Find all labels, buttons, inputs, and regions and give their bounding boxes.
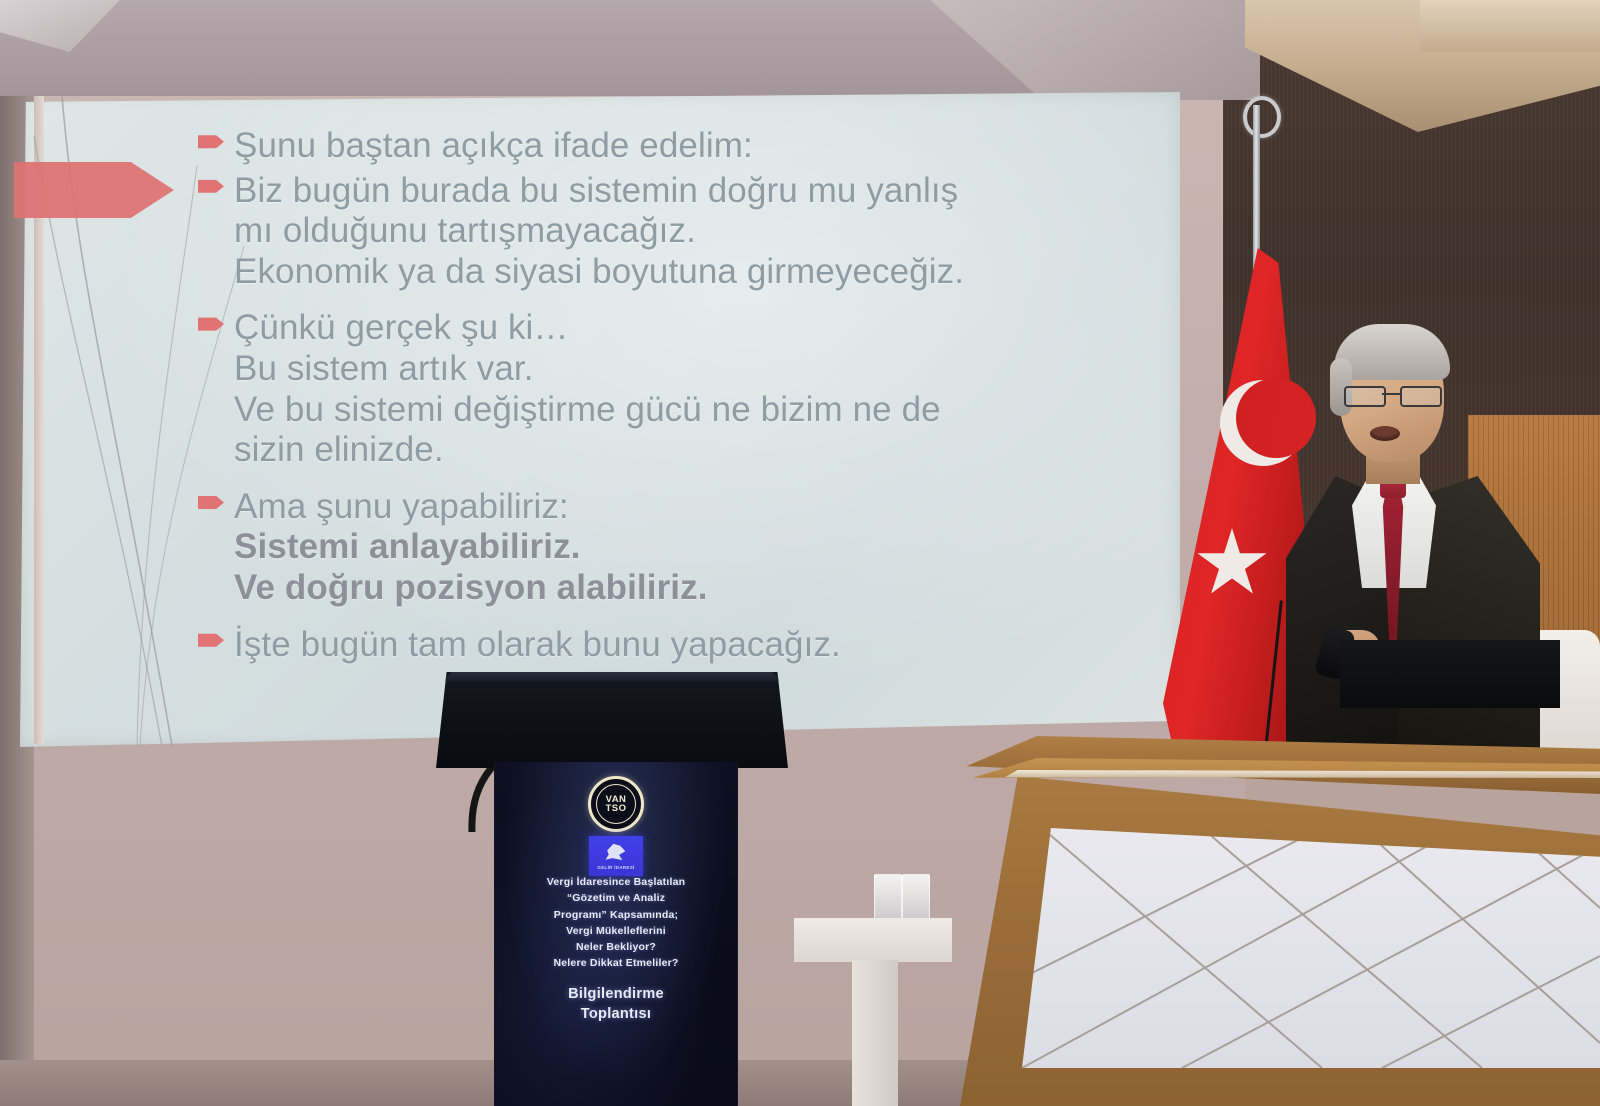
side-table-top [794,918,952,962]
podium-sign-line: Nelere Dikkat Etmeliler? [495,955,737,971]
slide-line: Şunu baştan açıkça ifade edelim: [198,126,1108,167]
podium-sign-title-line: Bilgilendirme [495,984,737,1004]
slide-bullet-block: İşte bugün tam olarak bunu yapacağız. [198,625,1108,666]
slide-line: Ekonomik ya da siyasi boyutuna girmeyece… [198,252,1108,293]
drinking-glass [874,874,902,922]
podium: VAN TSO GELİR İDARESİ Vergi İdaresince B… [436,672,788,1106]
podium-sign-line: Vergi Mükelleflerini [495,923,737,939]
podium-sign-subtitle-lines: Vergi İdaresince Başlatılan“Gözetim ve A… [495,874,737,972]
side-table-leg [852,960,898,1106]
van-tso-logo-bottom-text: TSO [605,804,626,814]
van-tso-logo-inner: VAN TSO [596,784,636,824]
podium-display-panel: VAN TSO GELİR İDARESİ Vergi İdaresince B… [494,762,738,1106]
slide-line: Ama şunu yapabiliriz: [198,487,1108,528]
slide-bullet-block: Çünkü gerçek şu ki…Bu sistem artık var.V… [198,308,1108,470]
lens-left [1344,386,1386,407]
gib-emblem-shape [603,843,629,863]
flag-finial [1243,96,1281,138]
gib-logo-word: GELİR İDARESİ [597,865,634,870]
slide-bullet-block: Biz bugün burada bu sistemin doğru mu ya… [198,171,1108,293]
van-tso-logo-icon: VAN TSO [588,776,644,832]
slide-line: sizin elinizde. [198,430,1108,471]
podium-sign-line: “Gözetim ve Analiz [495,890,737,906]
slide-line: Bu sistem artık var. [198,349,1108,390]
ceiling-beam-top [1420,0,1600,52]
podium-top-edge [442,672,782,682]
presentation-photo-scene: Şunu baştan açıkça ifade edelim:Biz bugü… [0,0,1600,1106]
lens-right [1400,386,1442,407]
slide-bullet-block: Ama şunu yapabiliriz:Sistemi anlayabilir… [198,487,1108,609]
slide-line: Sistemi anlayabiliriz. [198,527,1108,568]
podium-sign-line: Programı” Kapsamında; [495,907,737,923]
wooden-desk [960,736,1600,1106]
mouth [1370,426,1400,441]
eyeglasses [1344,386,1442,403]
slide-line: Ve doğru pozisyon alabiliriz. [198,568,1108,609]
gelir-idaresi-logo-icon: GELİR İDARESİ [589,836,643,876]
slide-line: İşte bugün tam olarak bunu yapacağız. [198,625,1108,666]
desk-lattice-panel [1022,828,1600,1068]
slide-line: mı olduğunu tartışmayacağız. [198,211,1108,252]
podium-sign-title-lines: BilgilendirmeToplantısı [495,984,737,1025]
diamond-lattice [1022,828,1600,1068]
slide-line: Biz bugün burada bu sistemin doğru mu ya… [198,171,1108,212]
podium-sign-line: Vergi İdaresince Başlatılan [495,874,737,890]
podium-sign-title-line: Toplantısı [495,1004,737,1024]
slide-line: Ve bu sistemi değiştirme gücü ne bizim n… [198,390,1108,431]
drinking-glass [902,874,930,922]
desk-monitor [1340,640,1560,708]
slide-text-body: Şunu baştan açıkça ifade edelim:Biz bugü… [198,126,1108,669]
podium-sign-text: Vergi İdaresince Başlatılan“Gözetim ve A… [495,874,737,1024]
podium-sign-line: Neler Bekliyor? [495,939,737,955]
slide-line: Çünkü gerçek şu ki… [198,308,1108,349]
slide-bullet-block: Şunu baştan açıkça ifade edelim: [198,126,1108,167]
podium-top [436,672,788,768]
glasses-bridge [1382,393,1400,395]
